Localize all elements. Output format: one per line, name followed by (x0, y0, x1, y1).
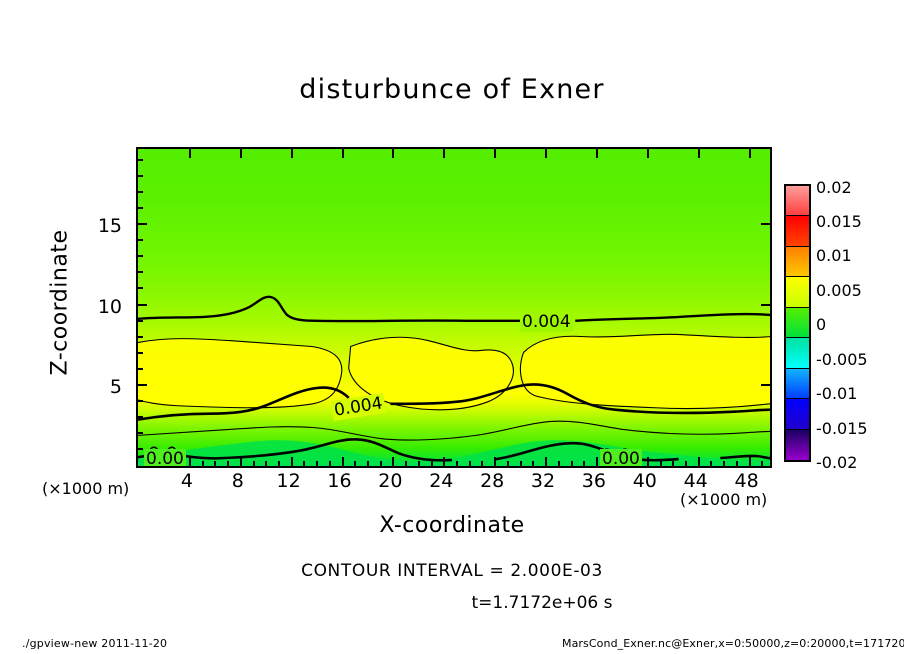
x-minor-tick (367, 461, 369, 466)
x-minor-tick (202, 461, 204, 466)
y-axis-label: Z-coordinate (48, 203, 73, 403)
x-top-tick (443, 149, 445, 158)
x-major-tick (545, 457, 547, 466)
x-tick-label: 40 (620, 470, 670, 492)
x-minor-tick (405, 461, 407, 466)
footer-source: MarsCond_Exner.nc@Exner,x=0:50000,z=0:20… (562, 637, 904, 650)
y-major-tick (138, 384, 147, 386)
colorbar-tick-label: 0.02 (816, 178, 852, 197)
x-minor-tick (571, 461, 573, 466)
x-minor-tick (278, 461, 280, 466)
colorbar-tick-label: -0.005 (816, 350, 868, 369)
y-minor-tick (138, 159, 143, 161)
x-axis-unit: (×1000 m) (680, 490, 767, 509)
x-minor-tick (469, 461, 471, 466)
x-tick-label: 12 (264, 470, 314, 492)
x-major-tick (749, 457, 751, 466)
y-minor-tick (138, 352, 143, 354)
footer-command: ./gpview-new 2011-11-20 (22, 637, 167, 650)
y-right-tick (761, 223, 770, 225)
timestamp-note: t=1.7172e+06 s (0, 593, 904, 613)
y-tick-label: 10 (88, 296, 122, 318)
colorbar-tick-label: -0.01 (816, 384, 857, 403)
y-minor-tick (138, 271, 143, 273)
x-top-tick (749, 149, 751, 158)
x-minor-tick (380, 461, 382, 466)
y-minor-tick (138, 239, 143, 241)
x-top-tick (494, 149, 496, 158)
x-tick-label: 28 (467, 470, 517, 492)
y-minor-tick (138, 336, 143, 338)
y-minor-tick (138, 432, 143, 434)
z-axis-unit: (×1000 m) (42, 479, 129, 498)
x-minor-tick (456, 461, 458, 466)
x-top-tick (240, 149, 242, 158)
y-major-tick (138, 223, 147, 225)
x-minor-tick (214, 461, 216, 466)
x-minor-tick (253, 461, 255, 466)
contour-plot-area: 0.004 0.004 0.00 0.00 (136, 147, 772, 468)
contour-interval-note: CONTOUR INTERVAL = 2.000E-03 (0, 561, 904, 581)
x-minor-tick (583, 461, 585, 466)
x-major-tick (240, 457, 242, 466)
x-major-tick (698, 457, 700, 466)
y-tick-label: 15 (88, 215, 122, 237)
colorbar-band (786, 399, 809, 429)
colorbar-tick-label: 0.005 (816, 281, 862, 300)
x-minor-tick (723, 461, 725, 466)
x-major-tick (392, 457, 394, 466)
colorbar-band (786, 247, 809, 277)
x-top-tick (698, 149, 700, 158)
contour-fill-layer (138, 149, 770, 466)
x-major-tick (189, 457, 191, 466)
y-minor-tick (138, 287, 143, 289)
x-tick-label: 32 (518, 470, 568, 492)
x-tick-label: 48 (722, 470, 772, 492)
x-minor-tick (507, 461, 509, 466)
x-minor-tick (736, 461, 738, 466)
y-minor-tick (138, 320, 143, 322)
colorbar-tick-label: 0 (816, 315, 826, 334)
y-minor-tick (138, 191, 143, 193)
x-top-tick (647, 149, 649, 158)
x-top-tick (545, 149, 547, 158)
colorbar-band (786, 369, 809, 399)
x-top-tick (189, 149, 191, 158)
x-minor-tick (532, 461, 534, 466)
x-major-tick (494, 457, 496, 466)
colorbar-band (786, 338, 809, 368)
colorbar-tick-label: -0.02 (816, 453, 857, 472)
y-minor-tick (138, 175, 143, 177)
colorbar-band (786, 216, 809, 246)
x-major-tick (291, 457, 293, 466)
colorbar-band (786, 308, 809, 338)
x-minor-tick (354, 461, 356, 466)
x-top-tick (596, 149, 598, 158)
x-minor-tick (710, 461, 712, 466)
x-top-tick (291, 149, 293, 158)
y-minor-tick (138, 207, 143, 209)
contour-label-lower-right: 0.00 (600, 449, 642, 468)
x-tick-label: 24 (416, 470, 466, 492)
contour-label-lower-left: 0.00 (144, 449, 186, 468)
contour-label-upper: 0.004 (520, 312, 573, 332)
x-tick-label: 20 (365, 470, 415, 492)
y-minor-tick (138, 255, 143, 257)
page-title: disturbunce of Exner (0, 74, 904, 105)
y-right-tick (761, 304, 770, 306)
y-minor-tick (138, 400, 143, 402)
x-major-tick (596, 457, 598, 466)
x-minor-tick (303, 461, 305, 466)
x-minor-tick (761, 461, 763, 466)
x-tick-label: 8 (213, 470, 263, 492)
colorbar-band (786, 186, 809, 216)
x-minor-tick (227, 461, 229, 466)
x-minor-tick (329, 461, 331, 466)
x-major-tick (647, 457, 649, 466)
x-top-tick (342, 149, 344, 158)
x-minor-tick (418, 461, 420, 466)
x-tick-label: 4 (162, 470, 212, 492)
colorbar-band (786, 277, 809, 307)
y-major-tick (138, 304, 147, 306)
x-minor-tick (672, 461, 674, 466)
x-minor-tick (265, 461, 267, 466)
x-major-tick (443, 457, 445, 466)
x-minor-tick (660, 461, 662, 466)
x-tick-label: 16 (315, 470, 365, 492)
colorbar (784, 184, 811, 462)
y-minor-tick (138, 448, 143, 450)
x-minor-tick (316, 461, 318, 466)
colorbar-band (786, 430, 809, 460)
y-minor-tick (138, 416, 143, 418)
x-major-tick (342, 457, 344, 466)
x-minor-tick (431, 461, 433, 466)
x-axis-label: X-coordinate (0, 513, 904, 538)
x-tick-label: 36 (569, 470, 619, 492)
y-minor-tick (138, 368, 143, 370)
x-tick-label: 44 (671, 470, 721, 492)
x-minor-tick (558, 461, 560, 466)
x-minor-tick (685, 461, 687, 466)
colorbar-tick-label: -0.015 (816, 419, 868, 438)
colorbar-tick-label: 0.01 (816, 246, 852, 265)
y-tick-label: 5 (88, 376, 122, 398)
y-right-tick (761, 384, 770, 386)
x-top-tick (392, 149, 394, 158)
x-minor-tick (520, 461, 522, 466)
x-minor-tick (481, 461, 483, 466)
colorbar-tick-label: 0.015 (816, 212, 862, 231)
